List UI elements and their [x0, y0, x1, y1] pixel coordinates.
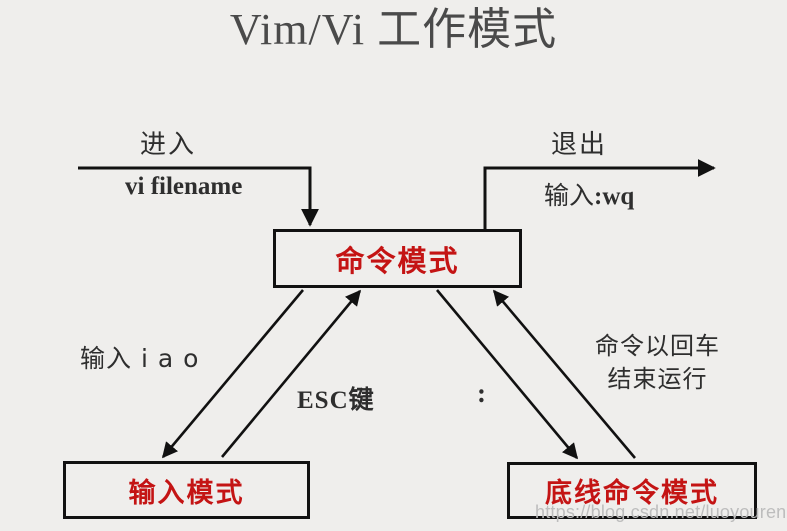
diagram-canvas: Vim/Vi 工作模式 命令: [0, 0, 787, 531]
node-command-mode[interactable]: 命令模式: [273, 229, 522, 288]
label-exit: 退出: [551, 124, 607, 161]
label-enter-run-line2: 结束运行: [595, 363, 720, 396]
label-input-iao: 输入 i a o: [80, 339, 199, 375]
label-enter-run: 命令以回车 结束运行: [595, 330, 720, 396]
label-enter: 进入: [140, 124, 196, 161]
insert-to-command-connector: [222, 291, 360, 457]
page-title: Vim/Vi 工作模式: [0, 2, 787, 58]
label-write-quit: 输入:wq: [544, 176, 634, 212]
label-esc-key: ESC键: [297, 380, 375, 416]
label-enter-run-line1: 命令以回车: [595, 330, 720, 363]
command-to-lastline-connector: [437, 290, 577, 458]
label-vi-filename: vi filename: [125, 173, 242, 201]
node-insert-mode[interactable]: 输入模式: [63, 461, 310, 519]
node-command-mode-label: 命令模式: [335, 238, 459, 280]
label-write-quit-command: :wq: [594, 183, 634, 210]
label-write-quit-prefix: 输入: [544, 181, 594, 210]
node-insert-mode-label: 输入模式: [129, 471, 245, 510]
watermark: https://blog.csdn.net/luoyouren: [535, 502, 786, 523]
label-colon: :: [477, 378, 486, 409]
